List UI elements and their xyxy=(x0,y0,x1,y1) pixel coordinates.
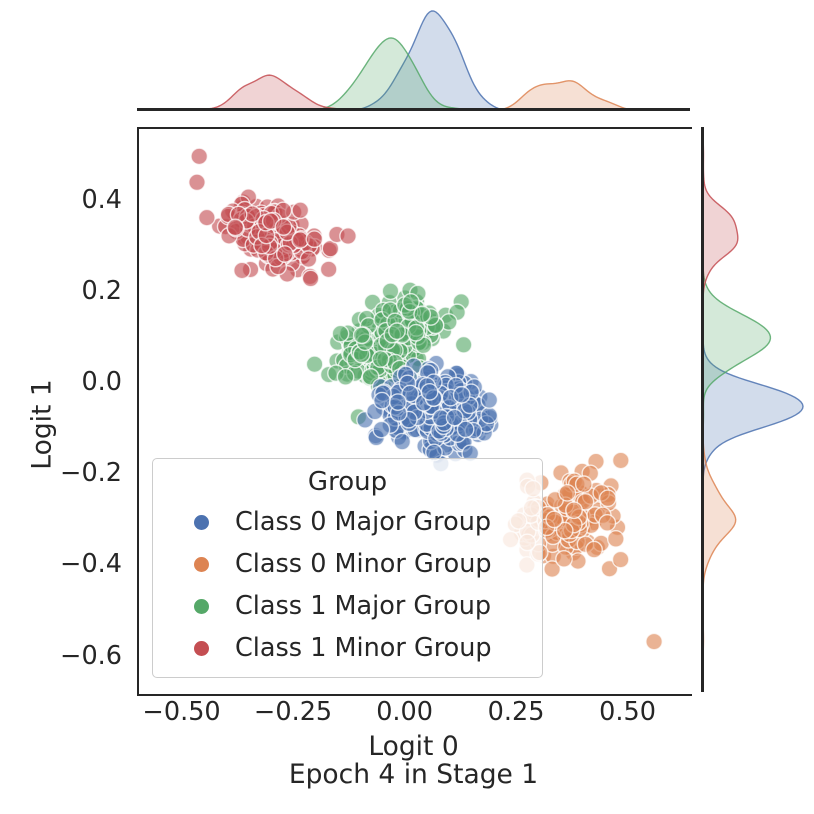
scatter-point xyxy=(332,325,348,341)
top-marginal-baseline xyxy=(137,108,690,111)
scatter-point xyxy=(234,262,250,278)
legend-marker-icon xyxy=(167,599,235,614)
scatter-point xyxy=(227,219,243,235)
legend-item[interactable]: Class 1 Minor Group xyxy=(153,627,542,669)
legend-marker-icon xyxy=(167,515,235,530)
scatter-point xyxy=(612,551,628,567)
scatter-point xyxy=(320,261,336,277)
scatter-point xyxy=(559,485,575,501)
scatter-point xyxy=(600,490,616,506)
legend-item[interactable]: Class 0 Minor Group xyxy=(153,543,542,585)
scatter-point xyxy=(421,384,437,400)
legend-entries: Class 0 Major GroupClass 0 Minor GroupCl… xyxy=(153,501,542,669)
scatter-point xyxy=(191,148,207,164)
scatter-point xyxy=(340,228,356,244)
scatter-point xyxy=(189,174,205,190)
right-marginal-kde xyxy=(703,127,808,692)
scatter-point xyxy=(394,433,410,449)
scatter-point xyxy=(455,337,471,353)
scatter-point xyxy=(292,202,308,218)
legend-marker-icon xyxy=(167,557,235,572)
scatter-point xyxy=(382,283,398,299)
scatter-point xyxy=(556,551,572,567)
x-tick-label: −0.50 xyxy=(143,697,221,727)
y-tick-label: −0.4 xyxy=(0,549,122,579)
x-tick-label: 0.50 xyxy=(599,697,656,727)
scatter-point xyxy=(576,476,592,492)
y-axis-label: Logit 1 xyxy=(27,275,58,575)
scatter-point xyxy=(302,270,318,286)
figure-caption: Epoch 4 in Stage 1 xyxy=(137,759,690,790)
scatter-point xyxy=(374,392,390,408)
y-tick-label: 0.2 xyxy=(0,276,122,306)
scatter-point xyxy=(453,387,469,403)
y-tick-label: 0.4 xyxy=(0,185,122,215)
legend-item[interactable]: Class 1 Major Group xyxy=(153,585,542,627)
legend-item-label: Class 0 Major Group xyxy=(235,507,491,537)
scatter-point xyxy=(599,515,615,531)
y-tick-label: 0.0 xyxy=(0,367,122,397)
scatter-series xyxy=(189,148,356,287)
legend-item-label: Class 1 Minor Group xyxy=(235,633,492,663)
scatter-point xyxy=(546,511,562,527)
scatter-point xyxy=(300,251,316,267)
scatter-point xyxy=(586,541,602,557)
legend-swatch xyxy=(194,557,209,572)
legend-swatch xyxy=(194,599,209,614)
legend-item-label: Class 1 Major Group xyxy=(235,591,491,621)
scatter-point xyxy=(481,392,497,408)
legend-swatch xyxy=(194,515,209,530)
scatter-point xyxy=(373,421,389,437)
scatter-point xyxy=(306,356,322,372)
legend-box[interactable]: Group Class 0 Major GroupClass 0 Minor G… xyxy=(152,458,543,678)
legend-swatch xyxy=(194,641,209,656)
legend-item-label: Class 0 Minor Group xyxy=(235,549,492,579)
x-tick-label: 0.00 xyxy=(376,697,433,727)
x-tick-label: 0.25 xyxy=(488,697,545,727)
scatter-point xyxy=(566,502,582,518)
scatter-point xyxy=(481,407,497,423)
right-marginal-baseline xyxy=(701,127,704,692)
scatter-point xyxy=(306,231,322,247)
legend-marker-icon xyxy=(167,641,235,656)
scatter-point xyxy=(446,409,462,425)
joint-plot-figure: −0.50−0.250.000.250.50 0.40.20.0−0.2−0.4… xyxy=(0,0,814,814)
scatter-point xyxy=(354,327,370,343)
scatter-point xyxy=(390,394,406,410)
x-tick-label: −0.25 xyxy=(254,697,332,727)
x-axis-label: Logit 0 xyxy=(137,731,690,762)
scatter-point xyxy=(608,531,624,547)
top-marginal-kde xyxy=(137,6,690,111)
scatter-point xyxy=(199,209,215,225)
scatter-point xyxy=(646,633,662,649)
scatter-point xyxy=(389,323,405,339)
scatter-point xyxy=(613,452,629,468)
legend-item[interactable]: Class 0 Major Group xyxy=(153,501,542,543)
y-tick-label: −0.6 xyxy=(0,641,122,671)
y-tick-label: −0.2 xyxy=(0,458,122,488)
scatter-point xyxy=(408,325,424,341)
legend-title: Group xyxy=(153,465,542,499)
scatter-point xyxy=(277,246,293,262)
scatter-point xyxy=(275,219,291,235)
scatter-point xyxy=(337,369,353,385)
scatter-point xyxy=(414,306,430,322)
scatter-point xyxy=(372,351,388,367)
